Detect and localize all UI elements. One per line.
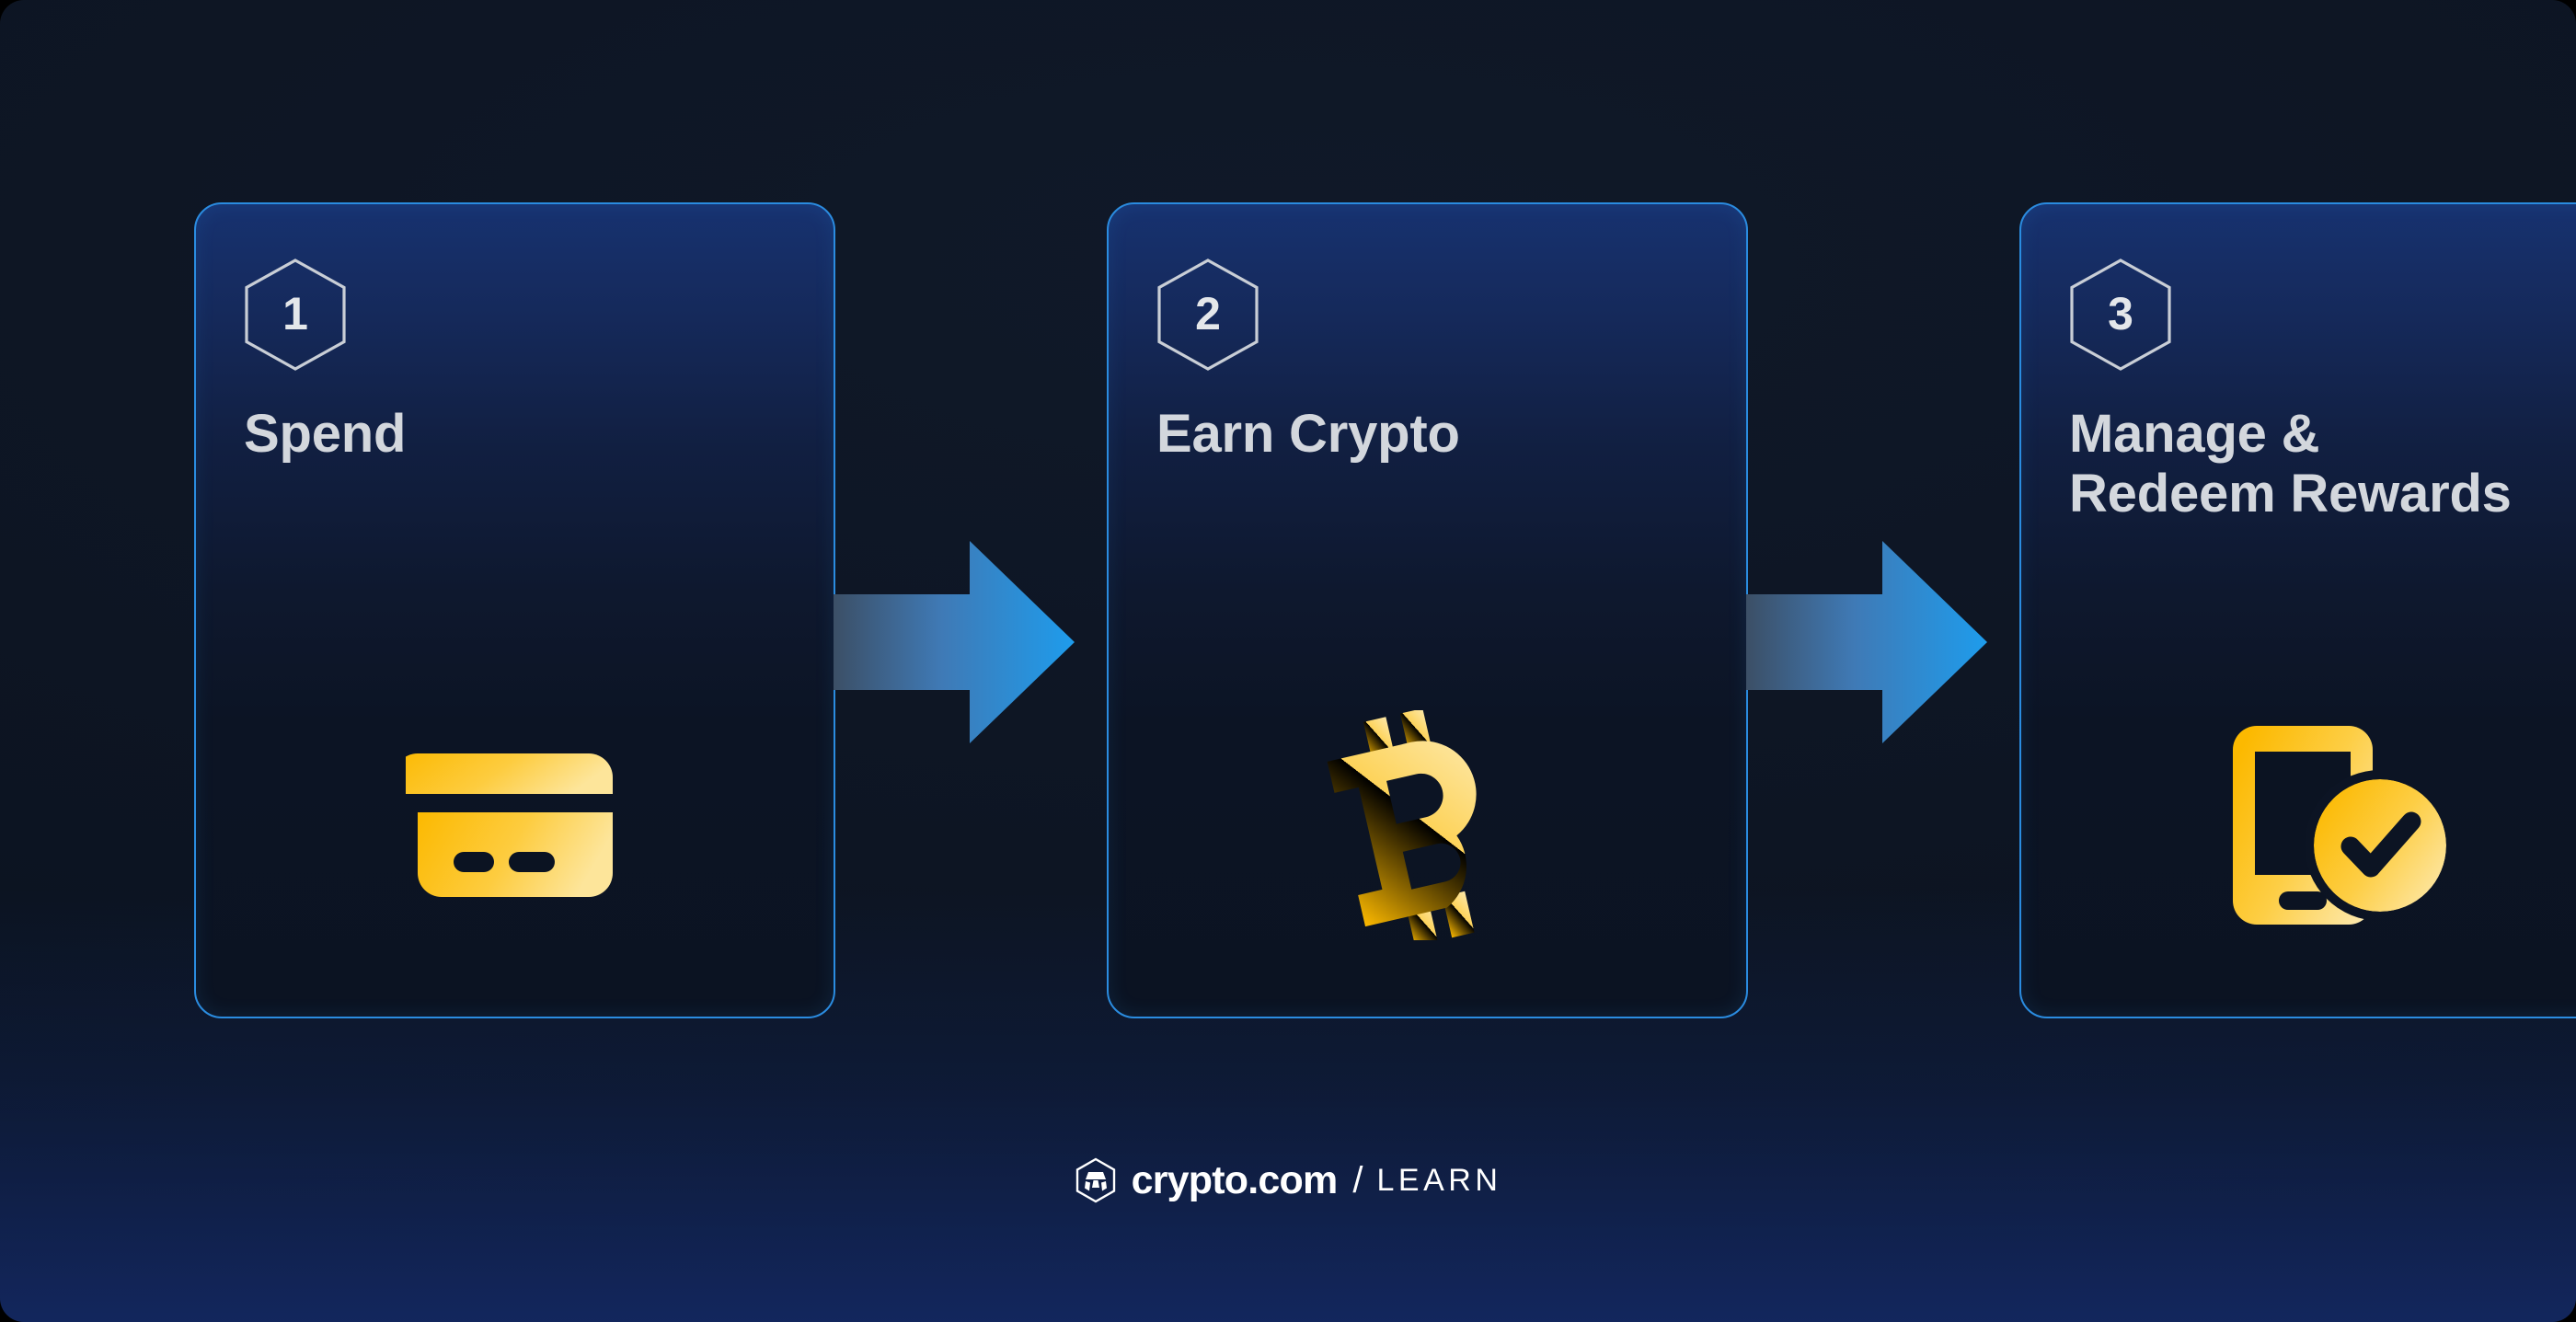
connector-arrow-1 (835, 202, 1107, 1018)
bitcoin-icon (1322, 710, 1534, 940)
step-number-badge-1: 1 (244, 258, 347, 372)
connector-arrow-2 (1748, 202, 2019, 1018)
step-number-label: 3 (2108, 291, 2133, 339)
step-title-2: Earn Crypto (1156, 405, 1698, 465)
arrow-right-icon (1746, 541, 2018, 743)
step-number-badge-2: 2 (1156, 258, 1259, 372)
arrow-right-icon (834, 541, 1105, 743)
crypto-com-hexagon-logo-icon (1075, 1157, 1117, 1203)
step-icon-slot-1 (196, 715, 834, 936)
step-card-earn-crypto[interactable]: 2 Earn Crypto (1107, 202, 1748, 1018)
step-card-manage-redeem[interactable]: 3 Manage & Redeem Rewards (2019, 202, 2576, 1018)
step-title-3: Manage & Redeem Rewards (2069, 405, 2576, 524)
step-number-badge-3: 3 (2069, 258, 2172, 372)
step-number-label: 2 (1195, 291, 1221, 339)
infographic-canvas: 1 Spend (0, 0, 2576, 1322)
steps-row: 1 Spend (194, 202, 2383, 1018)
brand-separator: / (1352, 1162, 1363, 1199)
step-card-spend[interactable]: 1 Spend (194, 202, 835, 1018)
brand-wordmark: crypto.com (1132, 1161, 1338, 1201)
brand-section-label: LEARN (1377, 1165, 1502, 1196)
brand-footer: crypto.com / LEARN (0, 1157, 2576, 1203)
step-number-label: 1 (282, 291, 308, 339)
step-title-1: Spend (244, 405, 786, 465)
credit-card-icon (406, 742, 625, 908)
step-icon-slot-2 (1109, 715, 1746, 936)
mobile-check-icon (2225, 715, 2455, 936)
step-icon-slot-3 (2021, 715, 2576, 936)
